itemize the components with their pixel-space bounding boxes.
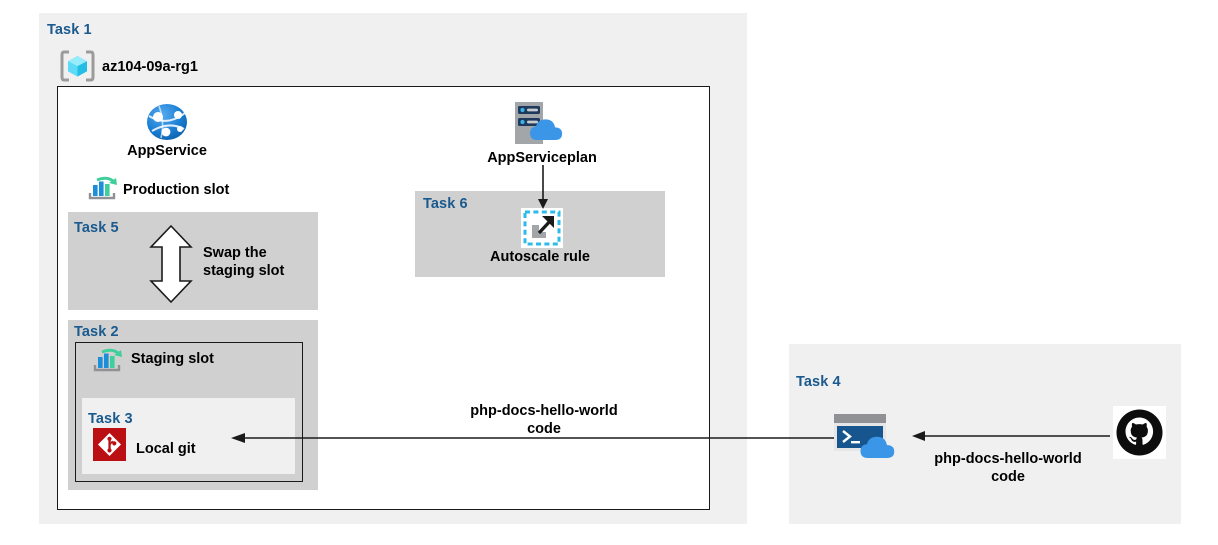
local-git-label: Local git	[136, 440, 196, 458]
deployment-slot-icon-staging	[92, 346, 124, 374]
production-slot-label: Production slot	[123, 181, 229, 199]
github-octocat-icon	[1113, 406, 1166, 459]
middle-flow-line1: php-docs-hello-world	[470, 403, 617, 419]
resource-group-name: az104-09a-rg1	[102, 58, 198, 76]
swap-double-arrow-icon	[148, 224, 194, 304]
task6-label: Task 6	[423, 196, 468, 212]
appserviceplan-server-cloud-icon	[513, 100, 571, 146]
appservice-globe-icon	[145, 103, 189, 141]
task3-label: Task 3	[88, 411, 133, 427]
task4-label: Task 4	[796, 374, 841, 390]
staging-slot-label: Staging slot	[131, 350, 214, 368]
middle-flow-label: php-docs-hello-world code	[444, 402, 644, 438]
task5-action-label: Swap the staging slot	[203, 244, 284, 280]
task5-action-line2: staging slot	[203, 263, 284, 279]
task4-flow-line1: php-docs-hello-world	[934, 451, 1081, 467]
deployment-slot-icon-production	[87, 174, 119, 202]
task5-label: Task 5	[74, 220, 119, 236]
autoscale-rule-label: Autoscale rule	[455, 248, 625, 266]
task5-action-line1: Swap the	[203, 245, 267, 261]
appserviceplan-label: AppServiceplan	[457, 149, 627, 167]
middle-flow-line2: code	[527, 421, 561, 437]
resource-group-icon	[60, 50, 95, 82]
task2-label: Task 2	[74, 324, 119, 340]
appservice-label: AppService	[102, 142, 232, 160]
task4-flow-line2: code	[991, 469, 1025, 485]
task1-label: Task 1	[47, 22, 92, 38]
cloud-shell-icon	[834, 414, 898, 460]
diagram-canvas: Task 1 az104-09a-rg1	[0, 0, 1218, 545]
git-logo-icon	[93, 428, 126, 461]
task4-flow-label: php-docs-hello-world code	[908, 450, 1108, 486]
autoscale-rule-icon	[521, 208, 563, 248]
